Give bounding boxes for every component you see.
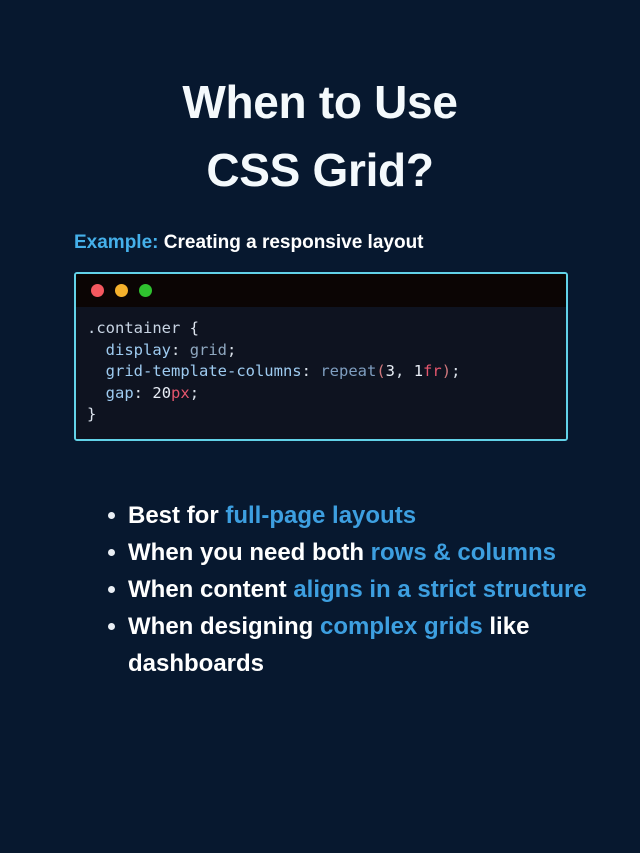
code-token-number: 20: [152, 384, 171, 402]
code-token-punct: ;: [227, 341, 236, 359]
code-token-punct: :: [134, 384, 143, 402]
code-token-plain: [311, 362, 320, 380]
code-token-property: display: [106, 341, 171, 359]
code-token-brace: }: [87, 405, 96, 423]
close-dot-icon[interactable]: [91, 284, 104, 297]
list-item-text: When content: [128, 576, 293, 603]
list-item-highlight: aligns in a strict structure: [293, 576, 586, 603]
page-title-line-2: CSS Grid?: [0, 136, 640, 204]
example-description: Creating a responsive layout: [164, 232, 424, 253]
maximize-dot-icon[interactable]: [139, 284, 152, 297]
code-token-punct: :: [302, 362, 311, 380]
code-token-number: 1: [414, 362, 423, 380]
list-item-text: When designing: [128, 613, 320, 640]
list-item: When you need both rows & columns: [103, 534, 594, 571]
code-token-plain: [143, 384, 152, 402]
code-token-selector: .container: [87, 319, 180, 337]
code-block: .container { display: grid; grid-templat…: [76, 307, 566, 439]
code-line: display: grid;: [87, 340, 566, 362]
example-caption: Example: Creating a responsive layout: [0, 231, 640, 255]
code-token-unit: fr: [423, 362, 442, 380]
code-token-plain: [87, 362, 106, 380]
code-line: grid-template-columns: repeat(3, 1fr);: [87, 361, 566, 383]
list-item: When content aligns in a strict structur…: [103, 571, 594, 608]
list-item-text: When you need both: [128, 539, 371, 566]
code-window: .container { display: grid; grid-templat…: [74, 272, 568, 441]
list-item: Best for full-page layouts: [103, 497, 594, 534]
code-line: gap: 20px;: [87, 383, 566, 405]
example-label: Example:: [74, 232, 158, 253]
benefits-list: Best for full-page layoutsWhen you need …: [0, 497, 640, 682]
code-token-property: grid-template-columns: [106, 362, 302, 380]
list-item-highlight: full-page layouts: [225, 502, 416, 529]
list-item-text: Best for: [128, 502, 225, 529]
code-token-paren: ): [442, 362, 451, 380]
code-token-unit: px: [171, 384, 190, 402]
page-title: When to Use CSS Grid?: [0, 0, 640, 204]
code-token-punct: ;: [451, 362, 460, 380]
list-item: When designing complex grids like dashbo…: [103, 608, 594, 682]
code-token-function: repeat: [320, 362, 376, 380]
minimize-dot-icon[interactable]: [115, 284, 128, 297]
code-token-plain: [87, 341, 106, 359]
code-token-number: 3: [386, 362, 395, 380]
code-token-value: grid: [190, 341, 227, 359]
page-title-line-1: When to Use: [0, 68, 640, 136]
code-token-punct: ;: [190, 384, 199, 402]
code-token-paren: (: [376, 362, 385, 380]
code-line: }: [87, 404, 566, 426]
code-token-plain: [87, 384, 106, 402]
code-line: .container {: [87, 318, 566, 340]
code-token-punct: ,: [395, 362, 404, 380]
code-token-plain: [180, 319, 189, 337]
list-item-highlight: rows & columns: [371, 539, 556, 566]
code-token-property: gap: [106, 384, 134, 402]
code-token-plain: [180, 341, 189, 359]
code-token-plain: [404, 362, 413, 380]
code-token-punct: :: [171, 341, 180, 359]
code-window-titlebar: [76, 274, 566, 307]
list-item-highlight: complex grids: [320, 613, 483, 640]
code-token-brace: {: [190, 319, 199, 337]
